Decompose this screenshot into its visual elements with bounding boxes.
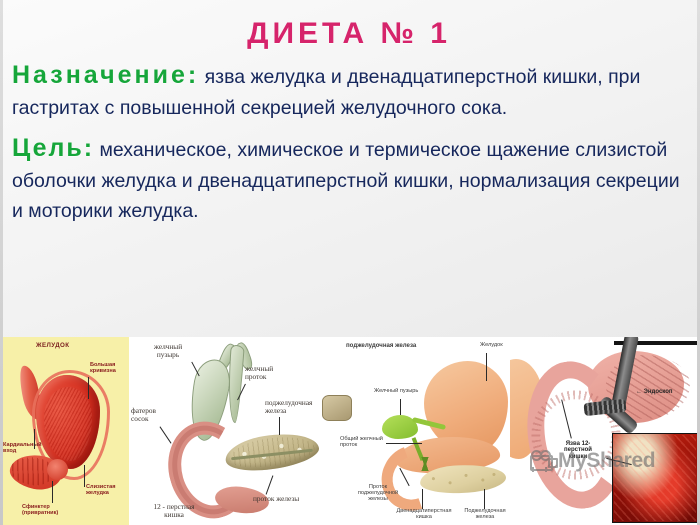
section-purpose: Назначение: язва желудка и двенадцатипер… [8, 60, 690, 123]
caption-pancreas: поджелудочная железа [265, 399, 312, 414]
leader-line-common-bile-duct [386, 443, 422, 444]
leader-line-pancreas [279, 417, 280, 435]
section-goal: Цель: механическое, химическое и термиче… [8, 133, 690, 227]
figure-gallbladder-duodenum: желчный пузырь желчный проток поджелудоч… [129, 337, 320, 525]
caption-stomach-title: ЖЕЛУДОК [36, 343, 69, 350]
section-goal-label: Цель: [12, 134, 94, 162]
caption-pancreas-title: поджелудочная железа [346, 343, 416, 349]
caption-common-bile-duct: Общий желчный проток [340, 437, 383, 449]
leader-line-greater-curvature [88, 377, 89, 399]
caption-bile-duct: желчный проток [245, 365, 273, 380]
figure-pancreas-schematic: поджелудочная железа Желудок Желчный пуз… [320, 337, 510, 525]
caption-duodenum-3: Двенадцатиперстная кишка [388, 509, 460, 521]
leader-line-pancreas-3 [484, 489, 485, 509]
leader-line-gallbladder-green [400, 399, 401, 415]
caption-stomach: Желудок [480, 343, 503, 349]
caption-mucosa: Слизистая желудка [86, 485, 115, 497]
caption-greater-curvature: Большая кривизна [90, 363, 116, 375]
pylorus-shape [47, 459, 68, 480]
caption-gallbladder-green: Желчный пузырь [374, 389, 418, 395]
caption-duodenum: 12 - перстная кишка [137, 503, 211, 518]
figure-stomach-anatomy: ЖЕЛУДОК Большая кривизна Кардиальный вхо… [0, 337, 129, 525]
pancreas-tissue-inset [322, 395, 352, 421]
caption-vater-papilla: фатеров сосок [131, 407, 156, 422]
leader-line-stomach [486, 353, 487, 381]
endoscopic-view-texture [614, 435, 696, 521]
caption-pancreatic-duct-3: Проток поджелудочной железы [350, 485, 406, 503]
section-goal-text: механическое, химическое и термическое щ… [12, 139, 680, 222]
caption-endoscope: ← Эндоскоп [636, 389, 673, 395]
leader-line-cardiac-inlet [34, 429, 35, 449]
caption-pancreatic-duct: проток железы [253, 495, 299, 503]
section-purpose-label: Назначение: [12, 61, 199, 89]
pancreatic-duct-tree [412, 457, 438, 471]
figure-strip: ЖЕЛУДОК Большая кривизна Кардиальный вхо… [0, 337, 700, 525]
leader-line-vater-papilla [159, 426, 171, 443]
caption-gallbladder: желчный пузырь [137, 343, 199, 358]
leader-line-pancreatic-duct [266, 475, 274, 494]
leader-line-duodenum-3 [422, 489, 423, 509]
leader-line-sphincter [52, 481, 53, 503]
caption-pancreas-3: Поджелудочная железа [460, 509, 510, 521]
leader-line-mucosa [84, 465, 85, 487]
figure-duodenal-ulcer-endoscopy: ← Эндоскоп Язва 12- перстной кишки MySha… [510, 337, 700, 525]
slide-text-area: ДИЕТА № 1 Назначение: язва желудка и две… [0, 0, 700, 337]
caption-sphincter: Сфинктер (привратник) [22, 505, 58, 517]
caption-cardiac-inlet: Кардиальный вход [3, 443, 42, 455]
page-title: ДИЕТА № 1 [8, 14, 690, 54]
slide-canvas: ДИЕТА № 1 Назначение: язва желудка и две… [0, 0, 700, 525]
caption-ulcer: Язва 12- перстной кишки [556, 441, 600, 460]
